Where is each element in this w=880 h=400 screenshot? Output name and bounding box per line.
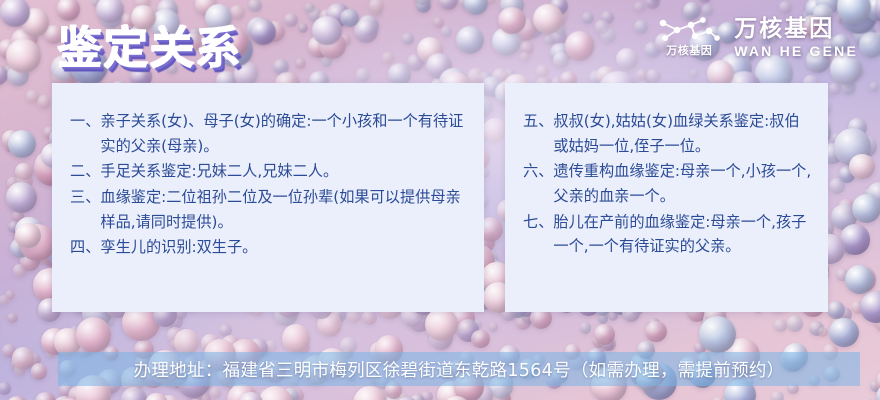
info-list-left: 一、亲子关系(女)、母子(女)的确定:一个小孩和一个有待证实的父亲(母亲)。二、… [52, 83, 484, 260]
brand-name-en: WAN HE GENE [734, 44, 858, 58]
list-item-text: 血缘鉴定:二位祖孙二位及一位孙辈(如果可以提供母亲样品,请同时提供)。 [100, 185, 470, 234]
list-item-number: 三、 [70, 185, 100, 210]
address-text: 办理地址：福建省三明市梅列区徐碧街道东乾路1564号（如需办理，需提前预约） [134, 357, 785, 382]
list-item-text: 手足关系鉴定:兄妹二人,兄妹二人。 [100, 159, 470, 184]
list-item-number: 六、 [523, 159, 553, 184]
list-item-text: 遗传重构血缘鉴定:母亲一个,小孩一个,父亲的血亲一个。 [553, 159, 814, 208]
list-item-number: 七、 [523, 210, 553, 235]
list-item-number: 二、 [70, 159, 100, 184]
list-item: 三、血缘鉴定:二位祖孙二位及一位孙辈(如果可以提供母亲样品,请同时提供)。 [70, 185, 470, 234]
poster-root: 鉴定关系 [0, 0, 880, 400]
list-item-text: 叔叔(女),姑姑(女)血绿关系鉴定:叔伯或姑妈一位,侄子一位。 [553, 109, 814, 158]
molecule-icon: 万核基因 [654, 14, 724, 60]
info-list-right: 五、叔叔(女),姑姑(女)血绿关系鉴定:叔伯或姑妈一位,侄子一位。六、遗传重构血… [505, 83, 828, 259]
list-item-text: 胎儿在产前的血缘鉴定:母亲一个,孩子一个,一个有待证实的父亲。 [553, 210, 814, 259]
list-item: 一、亲子关系(女)、母子(女)的确定:一个小孩和一个有待证实的父亲(母亲)。 [70, 109, 470, 158]
info-panel-right: 五、叔叔(女),姑姑(女)血绿关系鉴定:叔伯或姑妈一位,侄子一位。六、遗传重构血… [505, 83, 828, 312]
brand-logo: 万核基因 万核基因 WAN HE GENE [654, 14, 858, 60]
page-title: 鉴定关系 [58, 12, 242, 76]
list-item: 五、叔叔(女),姑姑(女)血绿关系鉴定:叔伯或姑妈一位,侄子一位。 [523, 109, 814, 158]
list-item-text: 孪生儿的识别:双生子。 [100, 235, 470, 260]
list-item-number: 四、 [70, 235, 100, 260]
brand-name-cn: 万核基因 [734, 17, 834, 40]
list-item: 七、胎儿在产前的血缘鉴定:母亲一个,孩子一个,一个有待证实的父亲。 [523, 210, 814, 259]
brand-mark-label: 万核基因 [666, 42, 712, 58]
brand-text: 万核基因 WAN HE GENE [734, 17, 858, 58]
info-panel-left: 一、亲子关系(女)、母子(女)的确定:一个小孩和一个有待证实的父亲(母亲)。二、… [52, 83, 484, 312]
list-item: 四、孪生儿的识别:双生子。 [70, 235, 470, 260]
list-item-number: 五、 [523, 109, 553, 134]
list-item-text: 亲子关系(女)、母子(女)的确定:一个小孩和一个有待证实的父亲(母亲)。 [100, 109, 470, 158]
list-item-number: 一、 [70, 109, 100, 134]
list-item: 二、手足关系鉴定:兄妹二人,兄妹二人。 [70, 159, 470, 184]
address-bar: 办理地址：福建省三明市梅列区徐碧街道东乾路1564号（如需办理，需提前预约） [58, 352, 860, 386]
list-item: 六、遗传重构血缘鉴定:母亲一个,小孩一个,父亲的血亲一个。 [523, 159, 814, 208]
